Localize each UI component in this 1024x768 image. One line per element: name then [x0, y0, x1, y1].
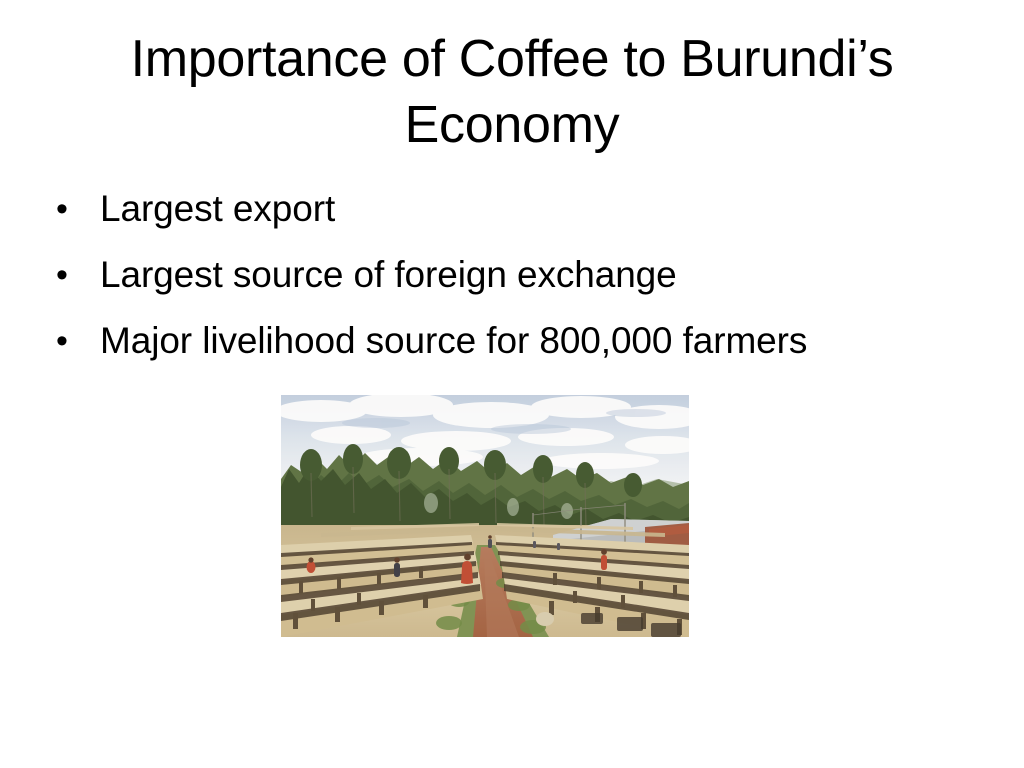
bullet-item-3: • Major livelihood source for 800,000 fa…	[56, 314, 976, 380]
bullet-list: • Largest export • Largest source of for…	[56, 182, 976, 380]
bullet-text-3: Major livelihood source for 800,000 farm…	[100, 314, 976, 368]
bullet-item-1: • Largest export	[56, 182, 976, 248]
slide-title: Importance of Coffee to Burundi’s Econom…	[62, 26, 962, 158]
slide-canvas: Importance of Coffee to Burundi’s Econom…	[0, 0, 1024, 768]
photo-illustration	[281, 395, 689, 637]
coffee-drying-station-photo	[281, 395, 689, 637]
slide-title-line-2: Economy	[62, 92, 962, 158]
bullet-text-2: Largest source of foreign exchange	[100, 248, 976, 302]
bullet-marker-icon: •	[56, 182, 100, 236]
bullet-marker-icon: •	[56, 248, 100, 302]
bullet-marker-icon: •	[56, 314, 100, 368]
slide-title-line-1: Importance of Coffee to Burundi’s	[62, 26, 962, 92]
bullet-text-1: Largest export	[100, 182, 976, 236]
bullet-item-2: • Largest source of foreign exchange	[56, 248, 976, 314]
